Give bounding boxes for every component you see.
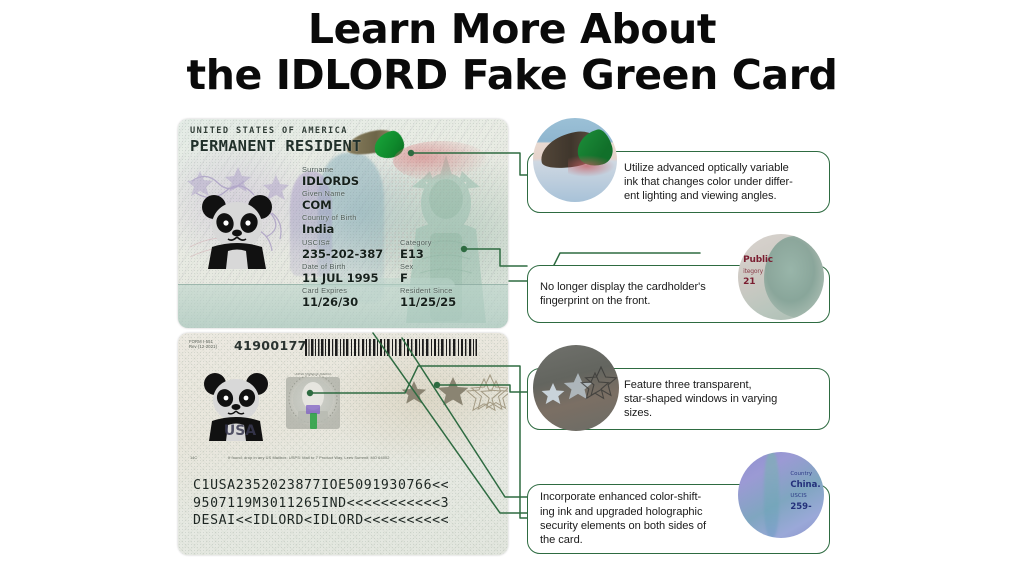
mrz-line-1: C1USA2352023877IOE5091930766<< xyxy=(193,477,505,495)
barcode xyxy=(305,339,477,356)
panda-photo-image-back: USA xyxy=(200,369,272,441)
field-given-name: Given Name COM xyxy=(302,189,502,212)
card-type-label: PERMANENT RESIDENT xyxy=(190,137,362,155)
holographic-stalk xyxy=(764,452,779,538)
thumb-4-china-text: China. xyxy=(790,480,820,490)
title-line-2: the IDLORD Fake Green Card xyxy=(0,52,1024,98)
field-date-of-birth-value: 11 JUL 1995 xyxy=(302,271,400,285)
star-windows-detail xyxy=(533,345,619,431)
field-card-expires-value: 11/26/30 xyxy=(302,295,400,309)
field-country-of-birth: Country of Birth India xyxy=(302,213,502,236)
field-uscis: USCIS# 235-202-387 xyxy=(302,238,400,261)
red-ink-blob xyxy=(568,155,615,177)
page-title: Learn More About the IDLORD Fake Green C… xyxy=(0,6,1024,98)
field-date-of-birth: Date of Birth 11 JUL 1995 xyxy=(302,262,400,285)
field-country-of-birth-label: Country of Birth xyxy=(302,213,502,222)
field-card-expires-label: Card Expires xyxy=(302,286,400,295)
callout-2-text: No longer display the cardholder's finge… xyxy=(540,280,706,309)
card-front-data-fields: Surname IDLORDS Given Name COM Country o… xyxy=(302,165,502,310)
form-number-line-2: Rev (12-2021) xyxy=(189,344,217,349)
field-category: Category E13 xyxy=(400,238,490,261)
country-header: UNITED STATES OF AMERICA xyxy=(190,126,362,136)
field-sex-label: Sex xyxy=(400,262,490,271)
field-sex-value: F xyxy=(400,271,490,285)
field-card-expires: Card Expires 11/26/30 xyxy=(302,286,400,309)
usa-overlay-text: USA xyxy=(224,423,256,439)
star-large-outline xyxy=(467,375,508,410)
mrz-line-2: 9507119M3011265IND<<<<<<<<<<<3 xyxy=(193,495,505,513)
thumb-2-category-text: itegory xyxy=(743,266,773,277)
field-given-name-value: COM xyxy=(302,198,502,212)
green-card-front: UNITED STATES OF AMERICA PERMANENT RESID… xyxy=(178,119,508,328)
field-date-of-birth-label: Date of Birth xyxy=(302,262,400,271)
field-country-of-birth-value: India xyxy=(302,222,502,236)
star-small xyxy=(402,381,426,404)
callout-3-text: Feature three transparent, star-shaped w… xyxy=(624,378,777,421)
field-surname-value: IDLORDS xyxy=(302,174,502,188)
field-resident-since: Resident Since 11/25/25 xyxy=(400,286,490,309)
thumb-4-uscis-text: USCIS xyxy=(790,491,820,502)
field-row-dob: Date of Birth 11 JUL 1995 Sex F xyxy=(302,262,502,285)
thumbnail-4-text: Country China. USCIS 259- xyxy=(790,469,820,513)
field-sex: Sex F xyxy=(400,262,490,285)
callout-1-text: Utilize advanced optically variable ink … xyxy=(624,161,793,204)
thumb-2-number-text: 21 xyxy=(743,277,755,287)
field-uscis-value: 235-202-387 xyxy=(302,247,400,261)
field-resident-since-label: Resident Since xyxy=(400,286,490,295)
star-windows-thumbnail xyxy=(533,345,619,431)
thumb-4-number-text: 259- xyxy=(790,502,811,512)
card-serial-number: 41900177 xyxy=(234,338,307,353)
field-row-uscis: USCIS# 235-202-387 Category E13 xyxy=(302,238,502,261)
title-line-1: Learn More About xyxy=(0,6,1024,52)
thumb-2-public-text: Public xyxy=(743,255,773,265)
thumb-4-country-text: Country xyxy=(790,469,820,480)
star-medium xyxy=(438,377,469,405)
color-shifting-ink-thumbnail: Country China. USCIS 259- xyxy=(738,452,824,538)
cardholder-photo xyxy=(198,191,276,269)
star-security-windows xyxy=(398,373,508,417)
mail-instructions: If found, drop in any US Mailbox. USPS: … xyxy=(228,455,390,460)
seal-text: UNITED STATES OF AMERICA xyxy=(295,372,332,376)
form-number: FORM I-551 Rev (12-2021) xyxy=(189,339,217,349)
holographic-seal: UNITED STATES OF AMERICA xyxy=(280,369,346,435)
green-card-back: FORM I-551 Rev (12-2021) 41900177 xyxy=(178,333,508,555)
mail-code: 14C xyxy=(190,455,197,460)
field-given-name-label: Given Name xyxy=(302,189,502,198)
cardholder-photo-back: USA xyxy=(200,369,272,441)
field-category-label: Category xyxy=(400,238,490,247)
field-uscis-label: USCIS# xyxy=(302,238,400,247)
panda-photo-image xyxy=(198,191,276,269)
fingerprint-removed-thumbnail: Public itegory 21 xyxy=(738,234,824,320)
field-category-value: E13 xyxy=(400,247,490,261)
machine-readable-zone: C1USA2352023877IOE5091930766<< 9507119M3… xyxy=(193,477,505,530)
field-surname-label: Surname xyxy=(302,165,502,174)
mrz-line-3: DESAI<<IDLORD<IDLORD<<<<<<<<<< xyxy=(193,512,505,530)
card-front-header: UNITED STATES OF AMERICA PERMANENT RESID… xyxy=(190,126,362,155)
field-resident-since-value: 11/25/25 xyxy=(400,295,490,309)
thumbnail-2-text: Public itegory 21 xyxy=(743,255,773,288)
optically-variable-ink-thumbnail xyxy=(533,118,617,202)
infographic-page: Learn More About the IDLORD Fake Green C… xyxy=(0,0,1024,566)
callout-4-text: Incorporate enhanced color-shift- ing in… xyxy=(540,490,706,547)
field-surname: Surname IDLORDS xyxy=(302,165,502,188)
field-row-expiry: Card Expires 11/26/30 Resident Since 11/… xyxy=(302,286,502,309)
